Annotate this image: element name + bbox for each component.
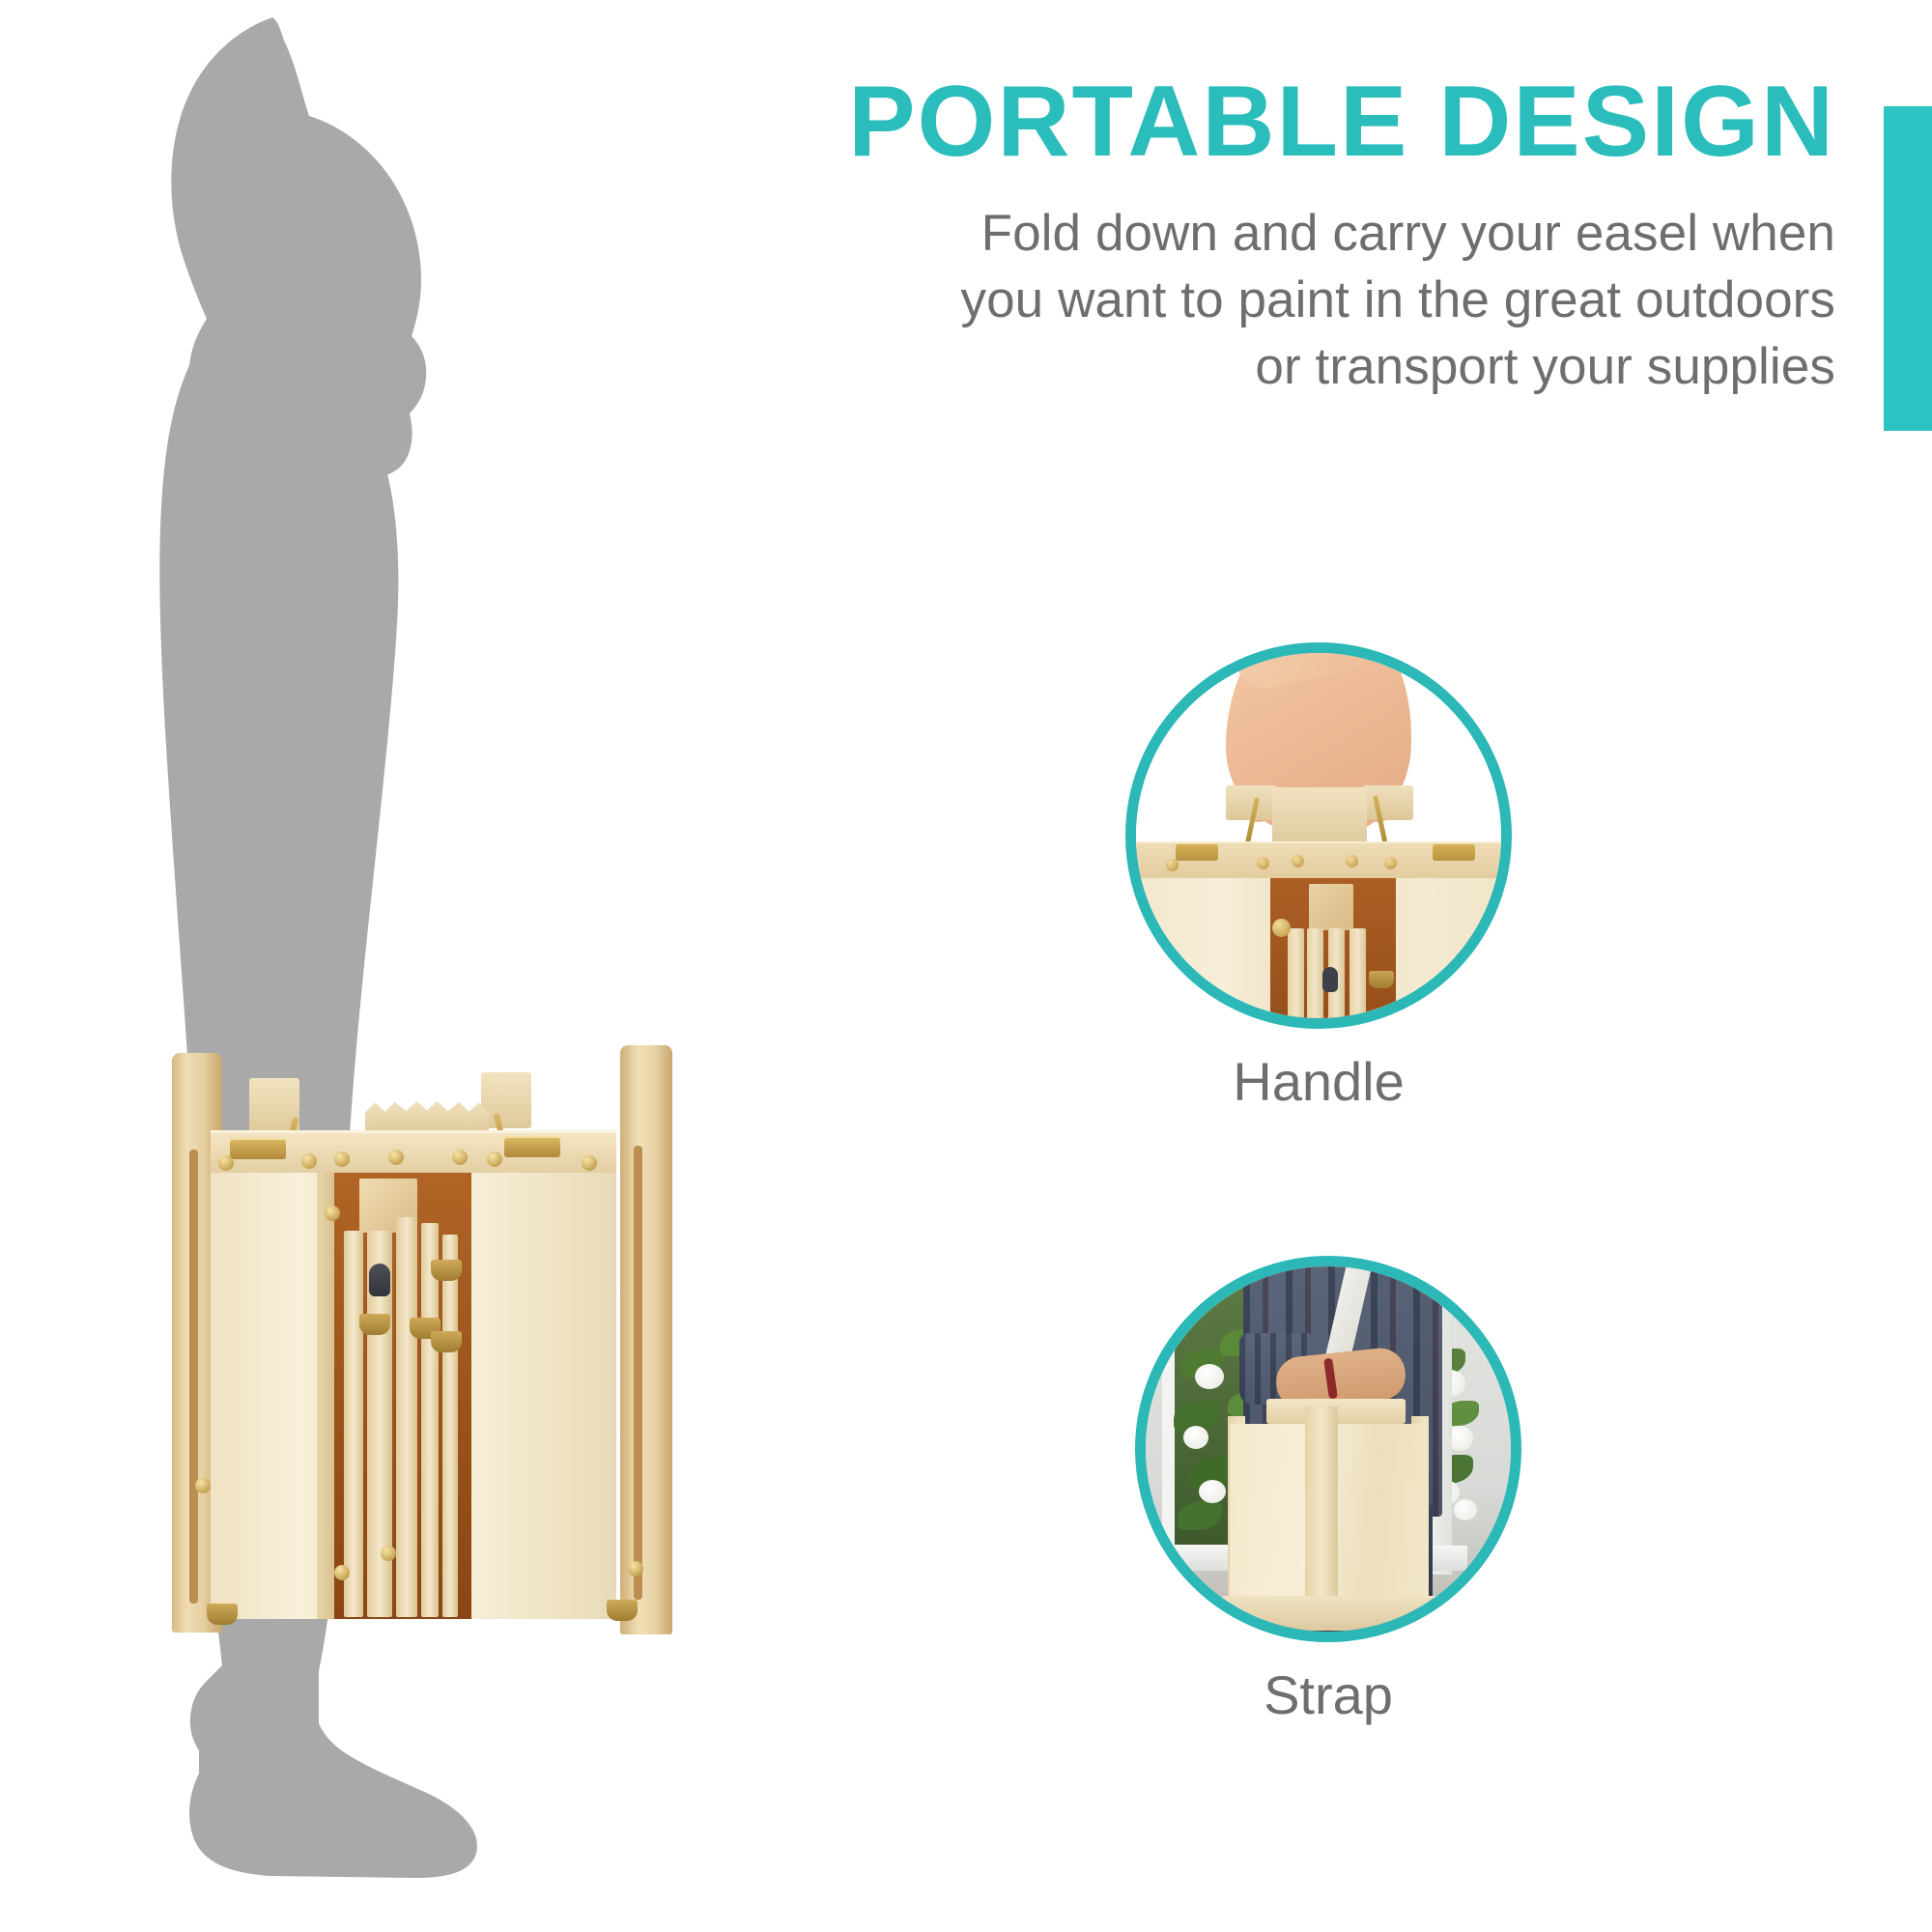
folded-easel-product [145, 1024, 724, 1681]
box-screw-2 [1257, 857, 1269, 869]
callout-handle-image [1125, 642, 1512, 1029]
strap-easel-canvas-lip [1222, 1596, 1436, 1631]
easel-screw-7 [582, 1155, 597, 1171]
strap-easel-mast [1305, 1406, 1338, 1627]
callout-handle-caption: Handle [1125, 1050, 1512, 1113]
easel-latch-right [504, 1136, 560, 1157]
handle-wing-right [1363, 785, 1413, 820]
easel-inner-panel-left [317, 1173, 334, 1619]
easel-slat-5 [442, 1235, 458, 1617]
easel-hinge-3 [431, 1331, 462, 1352]
cavity-hinge-1 [1369, 971, 1394, 988]
mast-block [1309, 884, 1353, 930]
callout-strap: Strap [1135, 1256, 1521, 1726]
cavity-slat-4 [1350, 928, 1366, 1029]
box-screw-3 [1292, 855, 1304, 867]
page-title: PORTABLE DESIGN [599, 68, 1835, 176]
easel-screw-3 [334, 1151, 350, 1167]
easel-screw-4 [388, 1150, 404, 1165]
easel-slat-1 [344, 1231, 363, 1617]
black-knob [1322, 967, 1338, 992]
subtitle-line-3: or transport your supplies [599, 334, 1835, 401]
teal-accent-bar [1884, 106, 1932, 431]
box-screw-4 [1346, 855, 1358, 867]
easel-hinge-4 [359, 1314, 390, 1335]
easel-leg-left-groove [189, 1150, 198, 1604]
easel-hinge-1 [431, 1260, 462, 1281]
subtitle-line-1: Fold down and carry your easel when [599, 201, 1835, 268]
wooden-carry-handle [1272, 787, 1367, 845]
brass-thumbscrew [1272, 919, 1291, 937]
box-screw-5 [1384, 857, 1397, 869]
callout-strap-ring [1135, 1256, 1521, 1642]
easel-latch-left [230, 1138, 286, 1159]
easel-screw-1 [218, 1155, 234, 1171]
easel-black-knob [369, 1264, 390, 1296]
easel-screw-6 [487, 1151, 502, 1167]
easel-screw-10 [195, 1478, 211, 1493]
callout-strap-caption: Strap [1135, 1663, 1521, 1726]
box-screw-1 [1166, 859, 1179, 871]
callout-strap-image [1135, 1256, 1521, 1642]
marketing-canvas: PORTABLE DESIGN Fold down and carry your… [0, 0, 1932, 1932]
easel-screw-8 [325, 1206, 340, 1221]
easel-handle-crest [365, 1099, 489, 1132]
easel-screw-2 [301, 1153, 317, 1169]
box-latch-left [1176, 843, 1218, 861]
callout-handle-ring [1125, 642, 1512, 1029]
subtitle-line-2: you want to paint in the great outdoors [599, 268, 1835, 334]
easel-hinge-6 [607, 1600, 638, 1621]
easel-screw-12 [628, 1561, 643, 1577]
easel-screw-9 [381, 1546, 396, 1561]
easel-slat-3 [396, 1217, 417, 1617]
easel-hinge-5 [207, 1604, 238, 1625]
box-latch-right [1433, 843, 1475, 861]
easel-screw-5 [452, 1150, 468, 1165]
headline-block: PORTABLE DESIGN Fold down and carry your… [599, 68, 1835, 401]
easel-leg-right-groove [634, 1146, 642, 1600]
page-subtitle: Fold down and carry your easel when you … [599, 201, 1835, 401]
cavity-slat-2 [1307, 928, 1323, 1029]
callout-handle: Handle [1125, 642, 1512, 1113]
easel-leg-right [620, 1045, 672, 1634]
easel-screw-11 [334, 1565, 350, 1580]
easel-slat-4 [421, 1223, 439, 1617]
cavity-slat-1 [1288, 928, 1304, 1029]
